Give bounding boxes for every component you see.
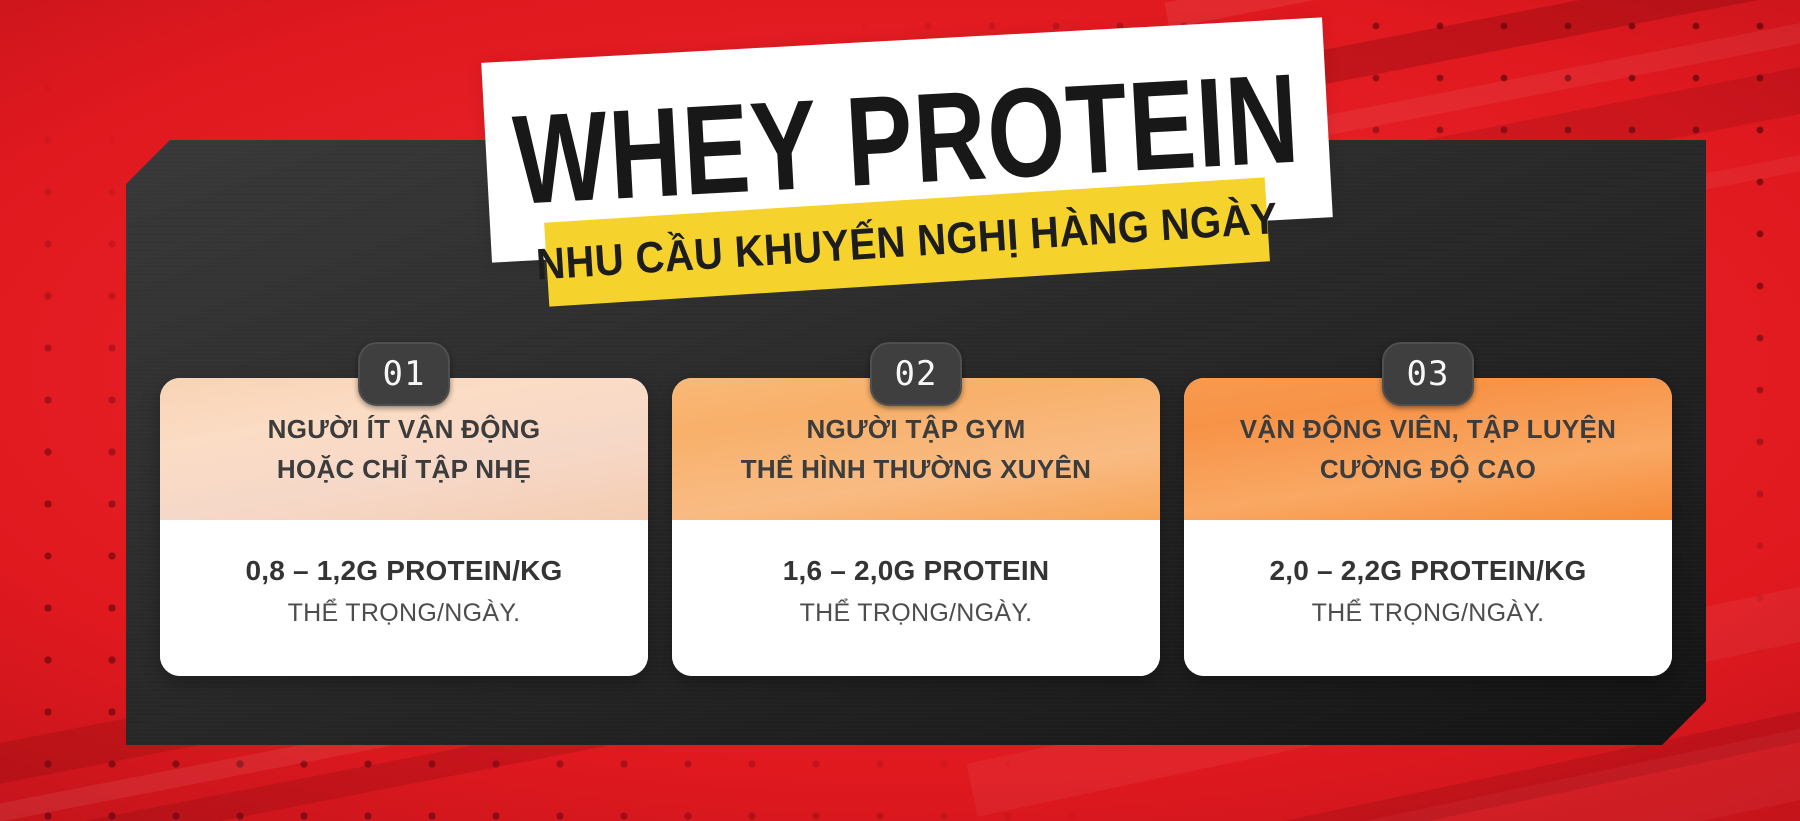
infographic-canvas: WHEY PROTEIN NHU CẦU KHUYẾN NGHỊ HÀNG NG… [0, 0, 1800, 821]
protein-value-unit: THỂ TRỌNG/NGÀY. [800, 599, 1033, 628]
recommendation-card-3: VẬN ĐỘNG VIÊN, TẬP LUYỆN CƯỜNG ĐỘ CAO 2,… [1184, 378, 1672, 676]
card-header-line-1: NGƯỜI TẬP GYM [806, 409, 1025, 449]
recommendation-card-1: NGƯỜI ÍT VẬN ĐỘNG HOẶC CHỈ TẬP NHẸ 0,8 –… [160, 378, 648, 676]
card-body-2: 1,6 – 2,0G PROTEIN THỂ TRỌNG/NGÀY. [672, 520, 1160, 676]
badge-number: 03 [1407, 357, 1450, 391]
card-header-line-1: NGƯỜI ÍT VẬN ĐỘNG [268, 409, 541, 449]
card-badge-03: 03 [1382, 342, 1474, 406]
card-body-1: 0,8 – 1,2G PROTEIN/KG THỂ TRỌNG/NGÀY. [160, 520, 648, 676]
card-wrapper-1: 01 NGƯỜI ÍT VẬN ĐỘNG HOẶC CHỈ TẬP NHẸ 0,… [160, 378, 648, 676]
card-badge-01: 01 [358, 342, 450, 406]
card-badge-02: 02 [870, 342, 962, 406]
card-row: 01 NGƯỜI ÍT VẬN ĐỘNG HOẶC CHỈ TẬP NHẸ 0,… [126, 378, 1706, 676]
card-header-line-1: VẬN ĐỘNG VIÊN, TẬP LUYỆN [1240, 409, 1617, 449]
protein-value: 2,0 – 2,2G PROTEIN/KG [1270, 555, 1587, 587]
recommendation-card-2: NGƯỜI TẬP GYM THỂ HÌNH THƯỜNG XUYÊN 1,6 … [672, 378, 1160, 676]
protein-value: 0,8 – 1,2G PROTEIN/KG [246, 555, 563, 587]
card-header-line-2: CƯỜNG ĐỘ CAO [1320, 449, 1536, 489]
card-wrapper-2: 02 NGƯỜI TẬP GYM THỂ HÌNH THƯỜNG XUYÊN 1… [672, 378, 1160, 676]
badge-number: 02 [895, 357, 938, 391]
protein-value-unit: THỂ TRỌNG/NGÀY. [1312, 599, 1545, 628]
protein-value: 1,6 – 2,0G PROTEIN [783, 555, 1050, 587]
card-header-line-2: HOẶC CHỈ TẬP NHẸ [277, 449, 531, 489]
card-wrapper-3: 03 VẬN ĐỘNG VIÊN, TẬP LUYỆN CƯỜNG ĐỘ CAO… [1184, 378, 1672, 676]
card-header-line-2: THỂ HÌNH THƯỜNG XUYÊN [741, 449, 1092, 489]
card-body-3: 2,0 – 2,2G PROTEIN/KG THỂ TRỌNG/NGÀY. [1184, 520, 1672, 676]
badge-number: 01 [383, 357, 426, 391]
protein-value-unit: THỂ TRỌNG/NGÀY. [288, 599, 521, 628]
